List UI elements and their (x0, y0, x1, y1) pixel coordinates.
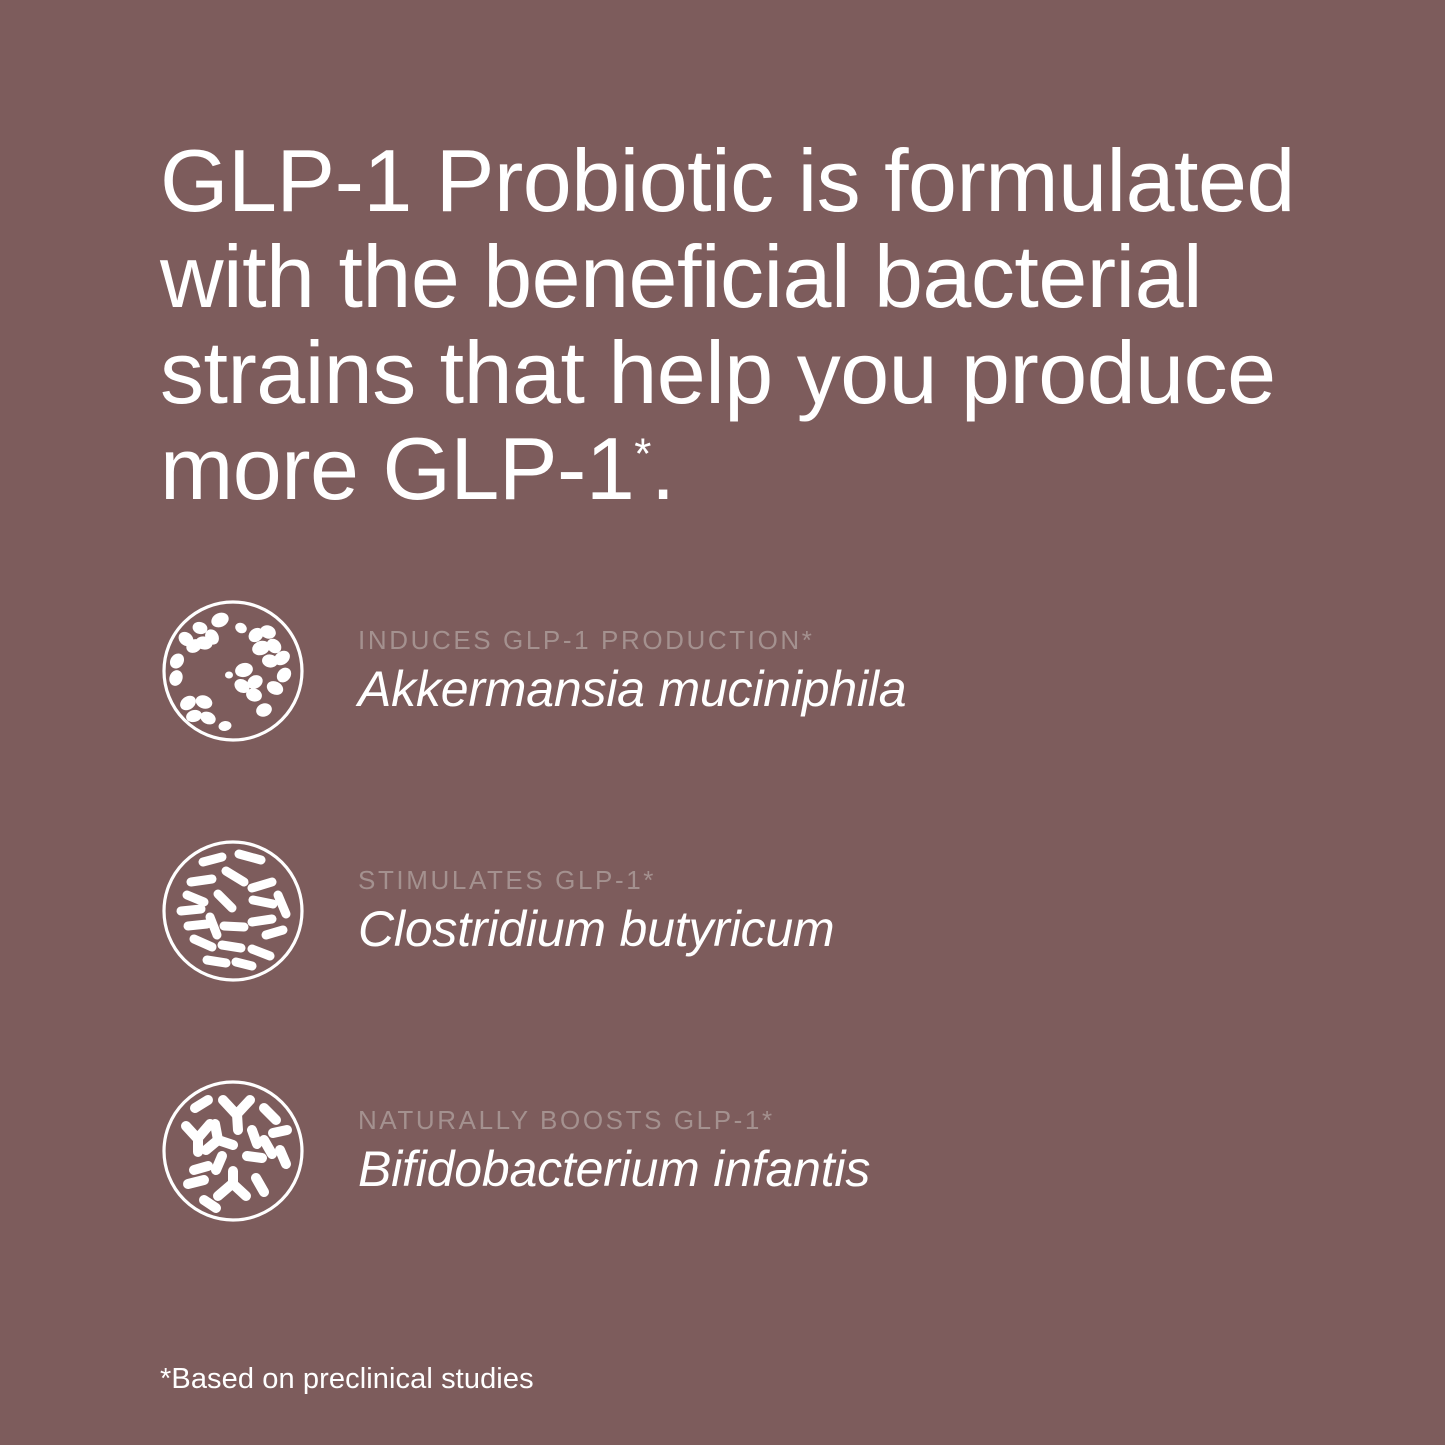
headline-asterisk: * (634, 430, 651, 479)
footnote-disclaimer: *Based on preclinical studies (160, 1365, 534, 1394)
strain-kicker: NATURALLY BOOSTS GLP-1* (358, 1107, 870, 1133)
strain-kicker: STIMULATES GLP-1* (358, 867, 834, 893)
strain-name: Bifidobacterium infantis (358, 1143, 870, 1196)
headline-line-4: more GLP-1*. (160, 419, 675, 518)
strain-list-item: STIMULATES GLP-1* Clostridium butyricum (160, 838, 1320, 984)
strain-text-block: STIMULATES GLP-1* Clostridium butyricum (358, 867, 834, 956)
strain-name: Akkermansia muciniphila (358, 663, 906, 716)
petri-dish-cocci-icon (160, 598, 306, 744)
headline-line-3: strains that help you produce (160, 323, 1276, 422)
strain-kicker: INDUCES GLP-1 PRODUCTION* (358, 627, 906, 653)
strain-text-block: INDUCES GLP-1 PRODUCTION* Akkermansia mu… (358, 627, 906, 716)
strain-text-block: NATURALLY BOOSTS GLP-1* Bifidobacterium … (358, 1107, 870, 1196)
strain-list: INDUCES GLP-1 PRODUCTION* Akkermansia mu… (160, 598, 1320, 1224)
petri-dish-rods-icon (160, 838, 306, 984)
petri-dish-branched-rods-icon (160, 1078, 306, 1224)
strain-list-item: NATURALLY BOOSTS GLP-1* Bifidobacterium … (160, 1078, 1320, 1224)
page-headline: GLP-1 Probiotic is formulated with the b… (160, 133, 1320, 517)
strain-list-item: INDUCES GLP-1 PRODUCTION* Akkermansia mu… (160, 598, 1320, 744)
product-benefit-panel: GLP-1 Probiotic is formulated with the b… (0, 0, 1445, 1445)
headline-period: . (651, 419, 675, 518)
headline-line-4-text: more GLP-1 (160, 419, 634, 518)
headline-line-2: with the beneficial bacterial (160, 227, 1202, 326)
strain-name: Clostridium butyricum (358, 903, 834, 956)
headline-line-1: GLP-1 Probiotic is formulated (160, 131, 1295, 230)
